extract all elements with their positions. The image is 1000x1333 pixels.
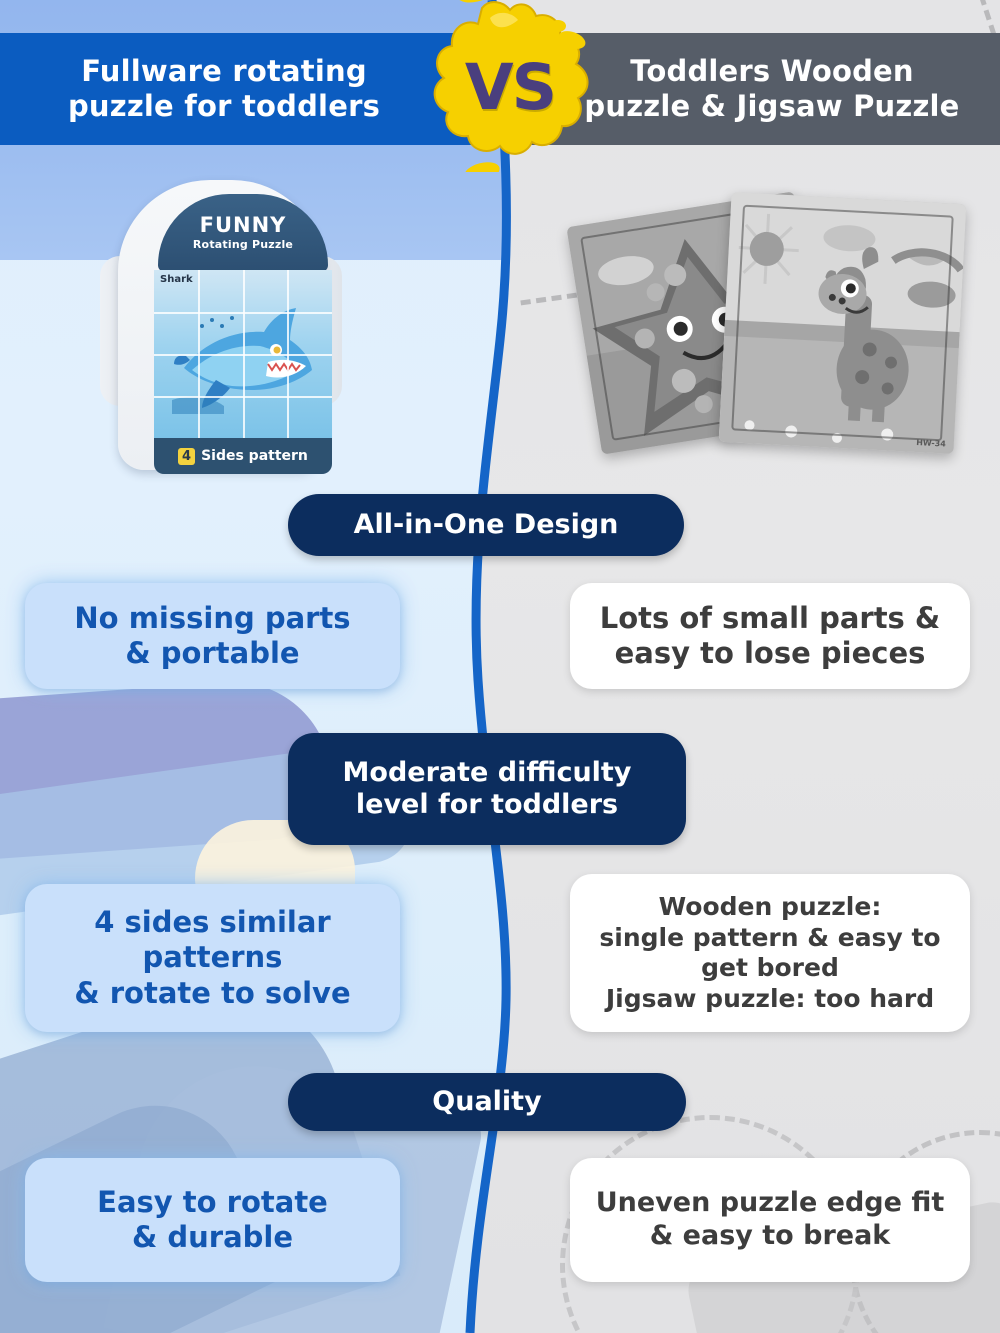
product-puzzle-face: Shark — [154, 270, 332, 438]
product-image-left: FUNNY Rotating Puzzle Shark — [96, 176, 346, 476]
infographic-root: Fullware rotating puzzle for toddlers To… — [0, 0, 1000, 1333]
product-subtitle: Rotating Puzzle — [193, 238, 293, 251]
right-card-quality: Uneven puzzle edge fit & easy to break — [570, 1158, 970, 1282]
product-brand-header: FUNNY Rotating Puzzle — [158, 194, 328, 272]
sides-count-badge: 4 — [178, 448, 195, 465]
product-footer-banner: 4 Sides pattern — [154, 438, 332, 474]
right-card-all-in-one: Lots of small parts & easy to lose piece… — [570, 583, 970, 689]
left-card-quality: Easy to rotate & durable — [25, 1158, 400, 1282]
product-brand: FUNNY — [200, 215, 287, 236]
product-body: FUNNY Rotating Puzzle Shark — [118, 180, 324, 470]
wooden-frame-inner-2 — [731, 205, 954, 442]
left-card-difficulty: 4 sides similar patterns & rotate to sol… — [25, 884, 400, 1032]
vs-label: VS — [420, 0, 600, 172]
product-image-right: HW-34 — [575, 190, 970, 470]
vs-badge: VS — [420, 0, 600, 172]
right-card-difficulty: Wooden puzzle: single pattern & easy to … — [570, 874, 970, 1032]
wooden-puzzle-giraffe: HW-34 — [719, 192, 967, 454]
puzzle-grid-lines — [154, 270, 332, 438]
section-label-quality: Quality — [288, 1073, 686, 1131]
header-left-title: Fullware rotating puzzle for toddlers — [50, 54, 450, 125]
product-footer-text: Sides pattern — [201, 448, 308, 464]
section-label-all-in-one: All-in-One Design — [288, 494, 684, 556]
puzzle-code-label: HW-34 — [916, 438, 946, 449]
left-card-all-in-one: No missing parts & portable — [25, 583, 400, 689]
section-label-difficulty: Moderate difficulty level for toddlers — [288, 733, 686, 845]
